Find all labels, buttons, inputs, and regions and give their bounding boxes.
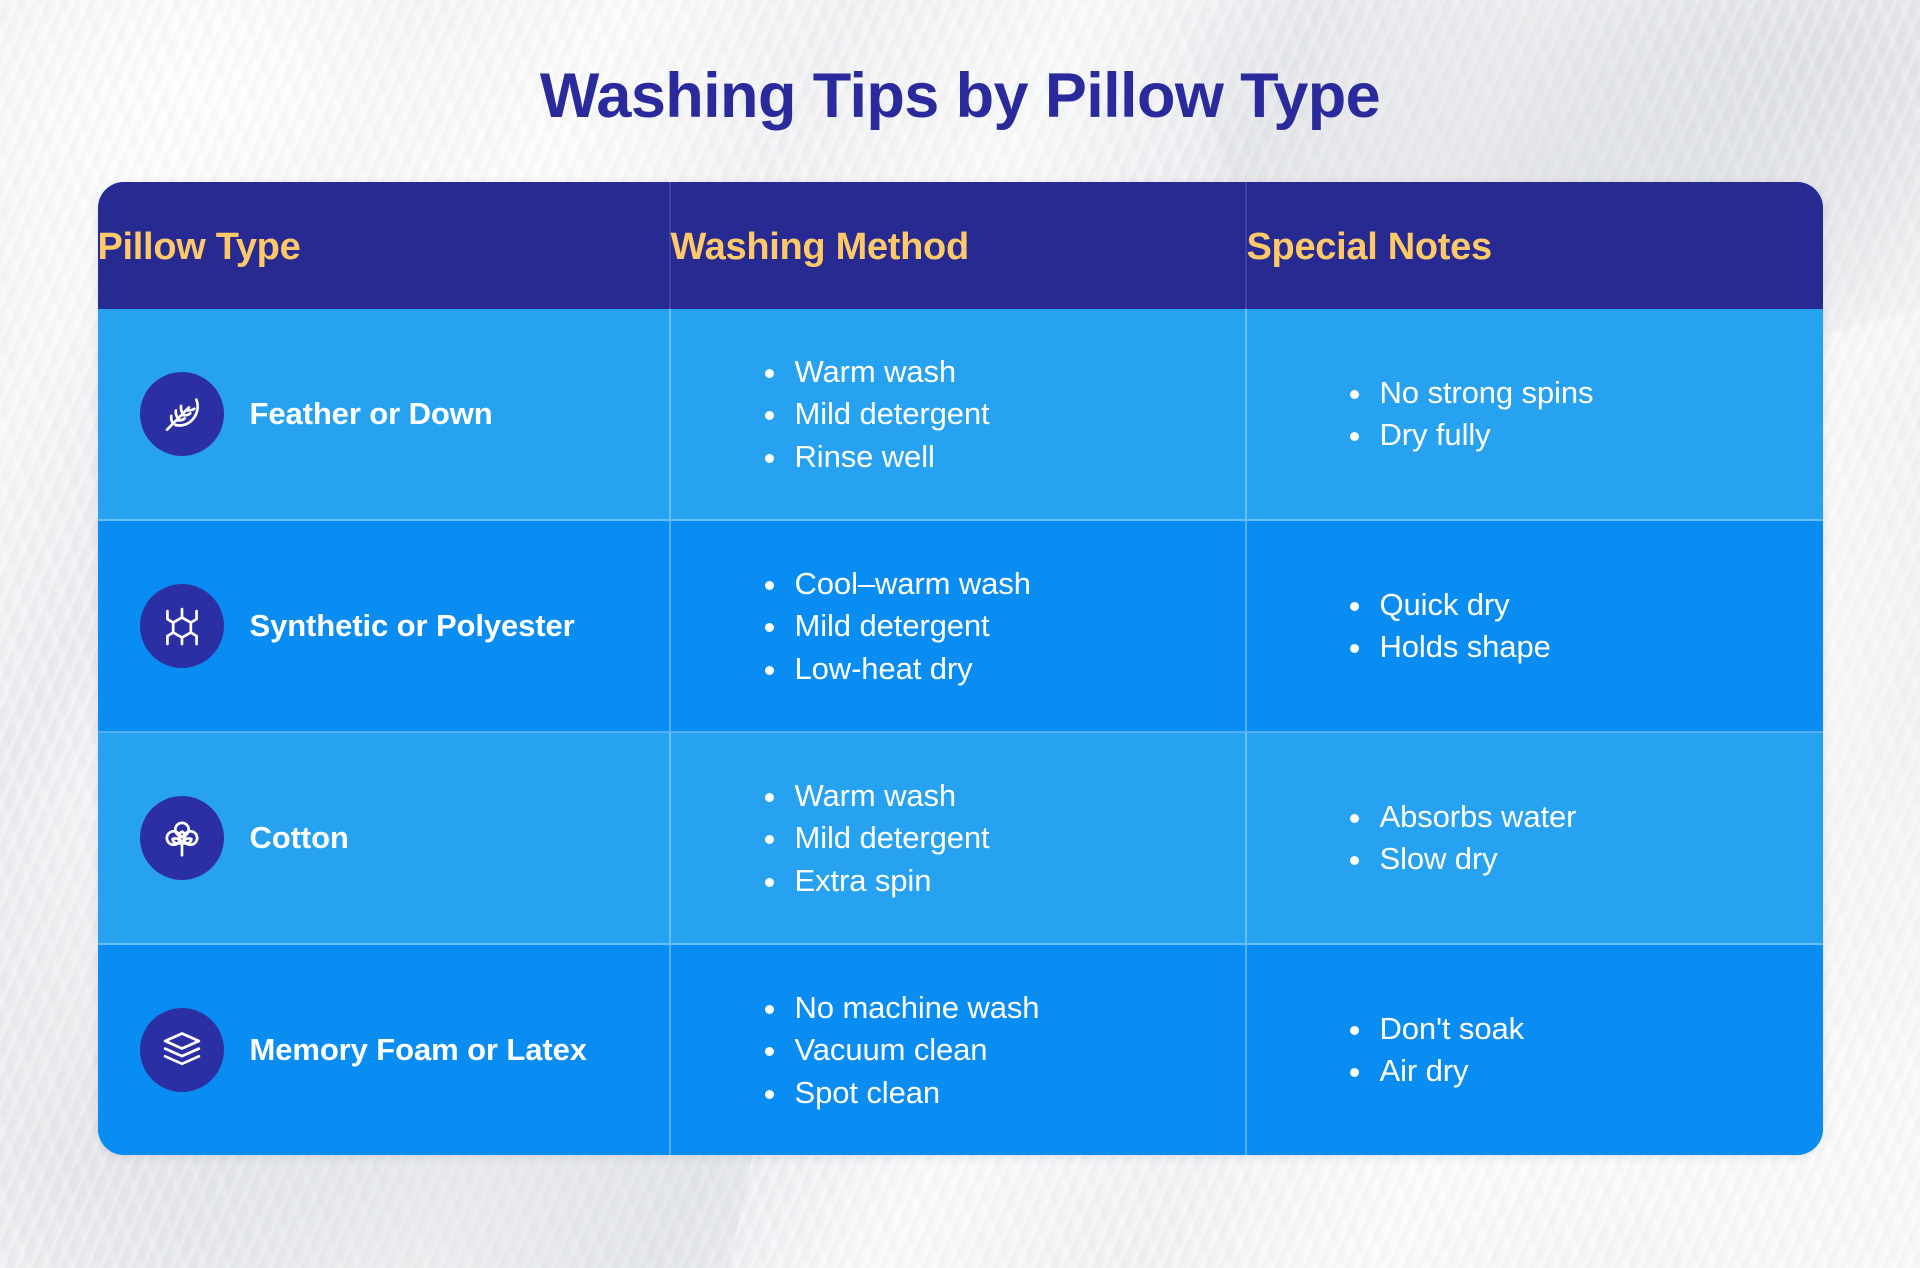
list-item: Extra spin bbox=[757, 860, 990, 902]
list-item: Mild detergent bbox=[757, 605, 1031, 647]
column-header-washing-method: Washing Method bbox=[671, 182, 1247, 309]
column-header-label: Special Notes bbox=[1247, 226, 1492, 269]
cell-washing-method: Cool–warm wash Mild detergent Low-heat d… bbox=[671, 521, 1247, 731]
special-notes-list: Don't soak Air dry bbox=[1342, 1008, 1525, 1093]
washing-method-list: No machine wash Vacuum clean Spot clean bbox=[757, 987, 1040, 1114]
washing-method-list: Cool–warm wash Mild detergent Low-heat d… bbox=[757, 563, 1031, 690]
cell-washing-method: No machine wash Vacuum clean Spot clean bbox=[671, 945, 1247, 1155]
column-header-special-notes: Special Notes bbox=[1247, 182, 1823, 309]
pillow-type-label: Synthetic or Polyester bbox=[250, 605, 575, 648]
list-item: Warm wash bbox=[757, 775, 990, 817]
cell-special-notes: Don't soak Air dry bbox=[1247, 945, 1823, 1155]
pillow-type-label: Feather or Down bbox=[250, 393, 493, 436]
list-item: Slow dry bbox=[1342, 838, 1577, 880]
list-item: No machine wash bbox=[757, 987, 1040, 1029]
list-item: Holds shape bbox=[1342, 626, 1551, 668]
polymer-molecule-icon bbox=[140, 584, 224, 668]
list-item: Absorbs water bbox=[1342, 796, 1577, 838]
cell-special-notes: No strong spins Dry fully bbox=[1247, 309, 1823, 519]
cell-pillow-type: Feather or Down bbox=[98, 309, 671, 519]
list-item: Cool–warm wash bbox=[757, 563, 1031, 605]
washing-method-list: Warm wash Mild detergent Extra spin bbox=[757, 775, 990, 902]
pillow-type-label: Cotton bbox=[250, 817, 349, 860]
cotton-boll-icon bbox=[140, 796, 224, 880]
list-item: Vacuum clean bbox=[757, 1029, 1040, 1071]
pillow-type-label: Memory Foam or Latex bbox=[250, 1029, 587, 1072]
list-item: Don't soak bbox=[1342, 1008, 1525, 1050]
table-row: Cotton Warm wash Mild detergent Extra sp… bbox=[98, 733, 1823, 945]
list-item: Spot clean bbox=[757, 1072, 1040, 1114]
table-row: Synthetic or Polyester Cool–warm wash Mi… bbox=[98, 521, 1823, 733]
cell-pillow-type: Memory Foam or Latex bbox=[98, 945, 671, 1155]
special-notes-list: Quick dry Holds shape bbox=[1342, 584, 1551, 669]
special-notes-list: No strong spins Dry fully bbox=[1342, 372, 1594, 457]
list-item: Air dry bbox=[1342, 1050, 1525, 1092]
list-item: Dry fully bbox=[1342, 414, 1594, 456]
page-title: Washing Tips by Pillow Type bbox=[0, 0, 1920, 131]
special-notes-list: Absorbs water Slow dry bbox=[1342, 796, 1577, 881]
washing-tips-table: Pillow Type Washing Method Special Notes bbox=[98, 182, 1823, 1155]
table-body: Feather or Down Warm wash Mild detergent… bbox=[98, 309, 1823, 1155]
column-header-label: Pillow Type bbox=[98, 226, 301, 269]
cell-washing-method: Warm wash Mild detergent Extra spin bbox=[671, 733, 1247, 943]
list-item: Rinse well bbox=[757, 436, 990, 478]
table-row: Feather or Down Warm wash Mild detergent… bbox=[98, 309, 1823, 521]
list-item: Mild detergent bbox=[757, 817, 990, 859]
table-row: Memory Foam or Latex No machine wash Vac… bbox=[98, 945, 1823, 1155]
layers-stack-icon bbox=[140, 1008, 224, 1092]
list-item: Mild detergent bbox=[757, 393, 990, 435]
list-item: Quick dry bbox=[1342, 584, 1551, 626]
column-header-pillow-type: Pillow Type bbox=[98, 182, 671, 309]
cell-washing-method: Warm wash Mild detergent Rinse well bbox=[671, 309, 1247, 519]
cell-pillow-type: Cotton bbox=[98, 733, 671, 943]
infographic-page: Washing Tips by Pillow Type Pillow Type … bbox=[0, 0, 1920, 1268]
list-item: Low-heat dry bbox=[757, 648, 1031, 690]
feather-icon bbox=[140, 372, 224, 456]
list-item: No strong spins bbox=[1342, 372, 1594, 414]
cell-pillow-type: Synthetic or Polyester bbox=[98, 521, 671, 731]
column-header-label: Washing Method bbox=[671, 226, 969, 269]
cell-special-notes: Quick dry Holds shape bbox=[1247, 521, 1823, 731]
list-item: Warm wash bbox=[757, 351, 990, 393]
table-header-row: Pillow Type Washing Method Special Notes bbox=[98, 182, 1823, 309]
cell-special-notes: Absorbs water Slow dry bbox=[1247, 733, 1823, 943]
washing-method-list: Warm wash Mild detergent Rinse well bbox=[757, 351, 990, 478]
